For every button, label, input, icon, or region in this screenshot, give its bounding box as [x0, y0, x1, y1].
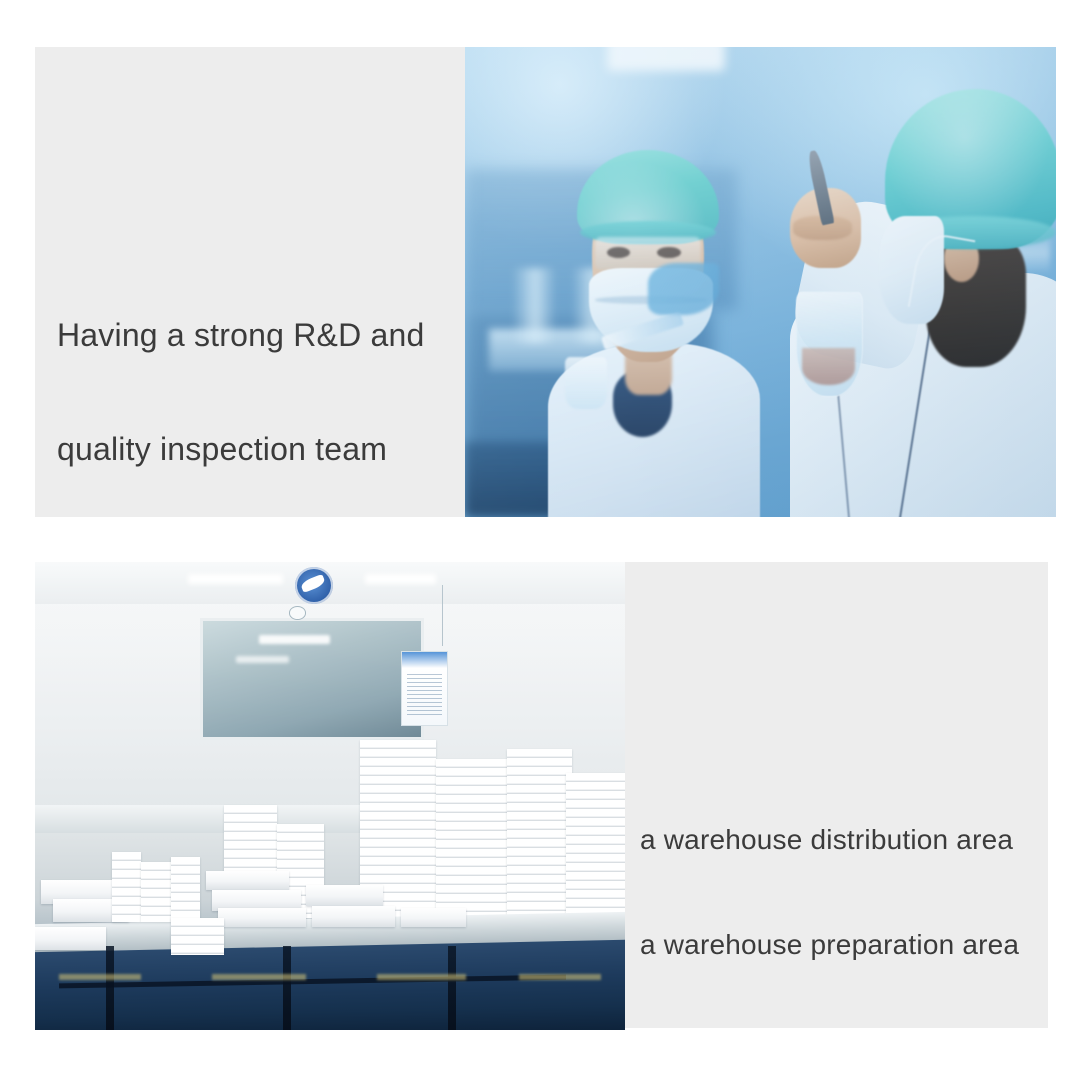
carton-upright-3: [171, 857, 201, 923]
carton-stack-back-3: [507, 749, 572, 917]
floor-marking-1: [59, 974, 142, 981]
floor-marking-3: [377, 974, 466, 981]
technician-left-vial: [565, 357, 606, 409]
lab-quality-inspection-photo: [465, 47, 1056, 517]
carton-front-2: [35, 927, 106, 950]
poster-canvas: Having a strong R&D and quality inspecti…: [0, 0, 1080, 1080]
carton-upright-2: [141, 862, 171, 923]
floor-marking-2: [212, 974, 306, 981]
technician-left-mask-strap: [648, 263, 719, 315]
section-1-caption-line-2: quality inspection team: [57, 430, 424, 468]
carton-front-1: [171, 918, 224, 955]
technician-right-flask-contents: [802, 348, 855, 386]
window-interior-light-1: [259, 635, 330, 644]
carton-stack-back-2: [436, 759, 507, 918]
section-1-caption: Having a strong R&D and quality inspecti…: [57, 240, 424, 544]
warehouse-ceiling-light-1: [188, 574, 282, 584]
carton-stack-back-4: [566, 773, 625, 918]
table-leg-3: [448, 946, 456, 1030]
table-leg-2: [283, 946, 291, 1030]
technician-left-eye-right: [657, 247, 681, 258]
hanging-cord: [442, 585, 443, 646]
carton-on-table-6: [306, 885, 383, 906]
floor-marking-4: [519, 974, 602, 981]
carton-on-table-7: [312, 906, 395, 927]
table-leg-1: [106, 946, 114, 1030]
window-interior-light-2: [236, 656, 289, 663]
carton-on-table-3: [206, 871, 289, 890]
wall-notice-text-lines: [407, 674, 442, 716]
carton-on-table-5: [218, 908, 307, 927]
section-2-caption-line-2: a warehouse preparation area: [640, 927, 1019, 962]
warehouse-packing-photo: [35, 562, 625, 1030]
carton-upright-1: [112, 852, 142, 922]
section-2-caption: a warehouse distribution area a warehous…: [640, 752, 1019, 1032]
lab-ceiling-light: [607, 47, 725, 71]
section-1-caption-line-1: Having a strong R&D and: [57, 316, 424, 354]
section-2-caption-line-1: a warehouse distribution area: [640, 822, 1019, 857]
warehouse-ceiling-light-2: [365, 574, 436, 584]
carton-on-table-8: [401, 908, 466, 927]
